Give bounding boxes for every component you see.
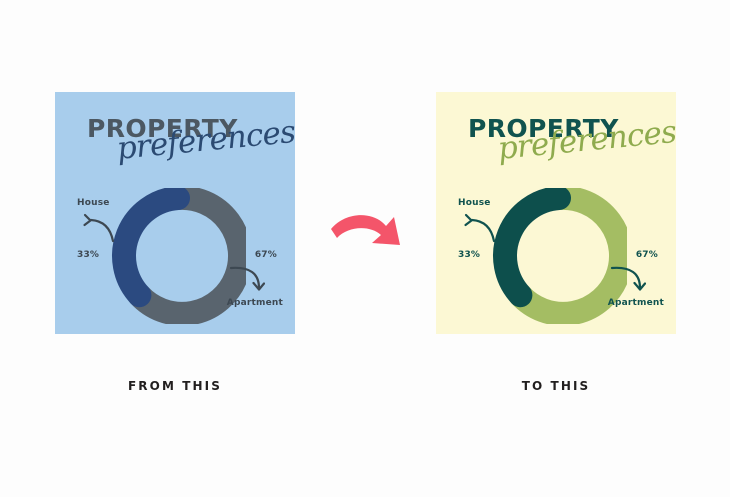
before-donut-chart	[110, 188, 246, 324]
after-caption: TO THIS	[436, 379, 676, 393]
curved-arrow-right-icon	[328, 205, 410, 267]
after-label-apartment-percent: 67%	[636, 250, 658, 260]
after-title-main: PROPERTY	[468, 116, 619, 141]
after-headline: PROPERTY preferences	[436, 116, 676, 188]
after-label-house: House	[458, 198, 491, 208]
before-title-main: PROPERTY	[87, 116, 238, 141]
after-card: PROPERTY preferences House 33% 67% Apart…	[436, 92, 676, 334]
after-donut-chart	[491, 188, 627, 324]
before-title-script: preferences	[116, 117, 295, 165]
before-slice-house	[124, 198, 178, 295]
before-card: PROPERTY preferences House 33% 67% Apart…	[55, 92, 295, 334]
after-title-script: preferences	[497, 117, 676, 165]
after-donut-svg	[491, 188, 627, 324]
after-label-house-percent: 33%	[458, 250, 480, 260]
before-label-apartment-percent: 67%	[255, 250, 277, 260]
before-label-house: House	[77, 198, 110, 208]
after-label-apartment: Apartment	[608, 298, 664, 308]
before-headline: PROPERTY preferences	[55, 116, 295, 188]
before-label-house-percent: 33%	[77, 250, 99, 260]
before-caption: FROM THIS	[55, 379, 295, 393]
after-slice-house	[505, 198, 559, 295]
before-label-apartment: Apartment	[227, 298, 283, 308]
before-donut-svg	[110, 188, 246, 324]
comparison-stage: PROPERTY preferences House 33% 67% Apart…	[0, 0, 730, 497]
